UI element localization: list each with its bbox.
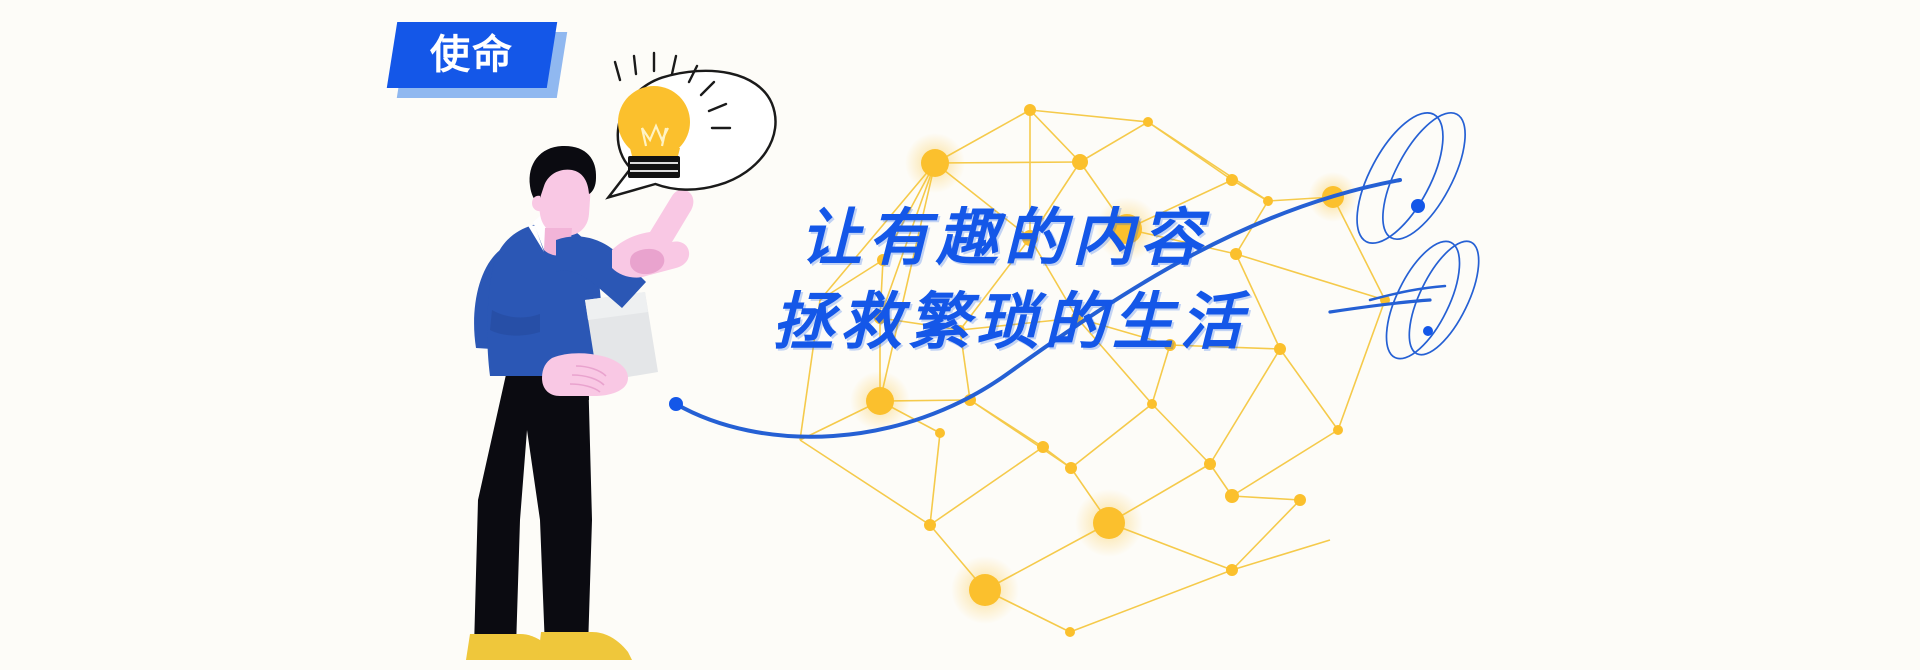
headline-line-2: 拯救繁琐的生活 [772, 280, 1420, 364]
mission-badge[interactable]: 使命 [388, 12, 568, 104]
badge-plate: 使命 [387, 22, 557, 88]
badge-label: 使命 [430, 35, 514, 75]
headline-line-1: 让有趣的内容 [800, 196, 1420, 280]
mission-banner: 使命 [0, 0, 1920, 670]
headline: 让有趣的内容 拯救繁琐的生活 [800, 196, 1420, 364]
